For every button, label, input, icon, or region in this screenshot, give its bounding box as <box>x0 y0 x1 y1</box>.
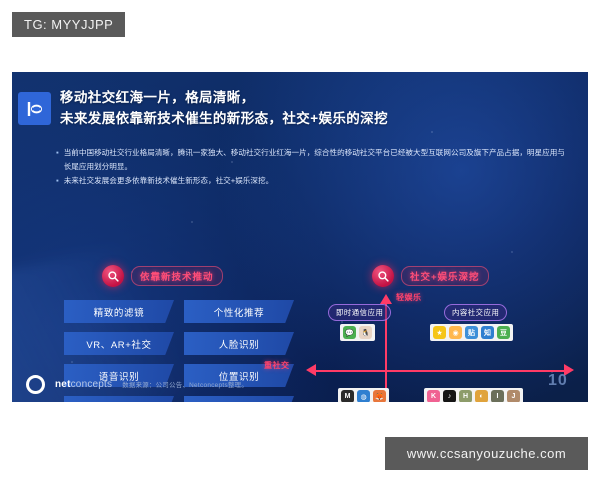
horizontal-axis <box>316 370 568 372</box>
watermark-top-left: TG: MYYJJPP <box>12 12 125 37</box>
momo-app-icon: M <box>341 390 354 402</box>
section-header-entertainment: 社交+娱乐深挖 <box>372 265 489 287</box>
tieba-icon: 贴 <box>465 326 478 339</box>
momo-icon: ◉ <box>449 326 462 339</box>
zhihu-icon: 知 <box>481 326 494 339</box>
feature-chip: VR、AR+社交 <box>64 332 174 355</box>
app-icon-row-im: 💬 🐧 <box>340 324 375 341</box>
yy-icon: ◐ <box>475 390 488 402</box>
slide-footer: netconcepts 数据来源：公司公告、Netconcepts整理。 <box>26 375 248 394</box>
list-item: ▪ 当前中国移动社交行业格局清晰，腾讯一家独大、移动社交行业红海一片，综合性的移… <box>56 146 566 174</box>
search-icon <box>102 265 124 287</box>
app-icon-row-stranger: M ◍ 🦊 <box>338 388 389 402</box>
quadrant-diagram: 轻娱乐 重娱乐 重社交 即时通信应用 内容社交应用 陌生人社交应用 泛娱乐社交应… <box>312 294 588 402</box>
feature-chip: 个性化推荐 <box>184 300 294 323</box>
bullet-dot: ▪ <box>56 174 59 188</box>
huajiao-icon: J <box>507 390 520 402</box>
qq-icon: 🐧 <box>359 326 372 339</box>
section-label: 依靠新技术推动 <box>131 266 223 286</box>
quadrant-tag-content: 内容社交应用 <box>444 304 507 321</box>
page-title: 移动社交红海一片，格局清晰， 未来发展依靠新技术催生的新形态，社交+娱乐的深挖 <box>60 88 388 130</box>
feature-chip: 精致的滤镜 <box>64 300 174 323</box>
title-line-1: 移动社交红海一片，格局清晰， <box>60 88 388 109</box>
weibo-icon: ★ <box>433 326 446 339</box>
presentation-slide: 移动社交红海一片，格局清晰， 未来发展依靠新技术催生的新形态，社交+娱乐的深挖 … <box>12 72 588 402</box>
axis-label-top: 轻娱乐 <box>396 292 422 303</box>
app-icon-row-content: ★ ◉ 贴 知 豆 <box>430 324 513 341</box>
axis-label-left: 重社交 <box>264 360 290 371</box>
feature-chip: 人脸识别 <box>184 332 294 355</box>
search-icon <box>372 265 394 287</box>
feature-chip: …… <box>184 396 294 402</box>
watermark-bottom-right: www.ccsanyouzuche.com <box>385 437 588 470</box>
arrow-left-icon <box>306 364 316 376</box>
kuaishou-icon: K <box>427 390 440 402</box>
soul-icon: 🦊 <box>373 390 386 402</box>
bullet-dot: ▪ <box>56 146 59 174</box>
huya-icon: H <box>459 390 472 402</box>
section-label: 社交+娱乐深挖 <box>401 266 489 286</box>
title-line-2: 未来发展依靠新技术催生的新形态，社交+娱乐的深挖 <box>60 109 388 130</box>
list-item: ▪ 未来社交发展会更多依靠新技术催生新形态，社交+娱乐深挖。 <box>56 174 566 188</box>
inke-icon: I <box>491 390 504 402</box>
wechat-icon: 💬 <box>343 326 356 339</box>
brand-bold: net <box>55 379 71 390</box>
source-note: 数据来源：公司公告、Netconcepts整理。 <box>122 380 248 389</box>
tantan-icon: ◍ <box>357 390 370 402</box>
brand-light: concepts <box>71 379 113 390</box>
bullet-text: 未来社交发展会更多依靠新技术催生新形态，社交+娱乐深挖。 <box>64 174 273 188</box>
app-icon-row-entertainment: K ♪ H ◐ I J <box>424 388 523 402</box>
arrow-up-icon <box>380 294 392 304</box>
page-number: 10 <box>548 372 568 390</box>
netconcepts-logo-icon <box>26 375 45 394</box>
quadrant-tag-im: 即时通信应用 <box>328 304 391 321</box>
screenshot-root: TG: MYYJJPP 移动社交红海一片，格局清晰， 未来发展依靠新技术催生的新… <box>0 0 600 480</box>
brand-wordmark: netconcepts <box>55 379 112 390</box>
slide-title-block: 移动社交红海一片，格局清晰， 未来发展依靠新技术催生的新形态，社交+娱乐的深挖 <box>18 88 388 130</box>
bullet-list: ▪ 当前中国移动社交行业格局清晰，腾讯一家独大、移动社交行业红海一片，综合性的移… <box>56 146 566 188</box>
brand-logo-icon <box>18 92 51 125</box>
douban-icon: 豆 <box>497 326 510 339</box>
section-header-technology: 依靠新技术推动 <box>102 265 223 287</box>
feature-chip: 区块链 <box>64 396 174 402</box>
douyin-icon: ♪ <box>443 390 456 402</box>
bullet-text: 当前中国移动社交行业格局清晰，腾讯一家独大、移动社交行业红海一片，综合性的移动社… <box>64 146 566 174</box>
